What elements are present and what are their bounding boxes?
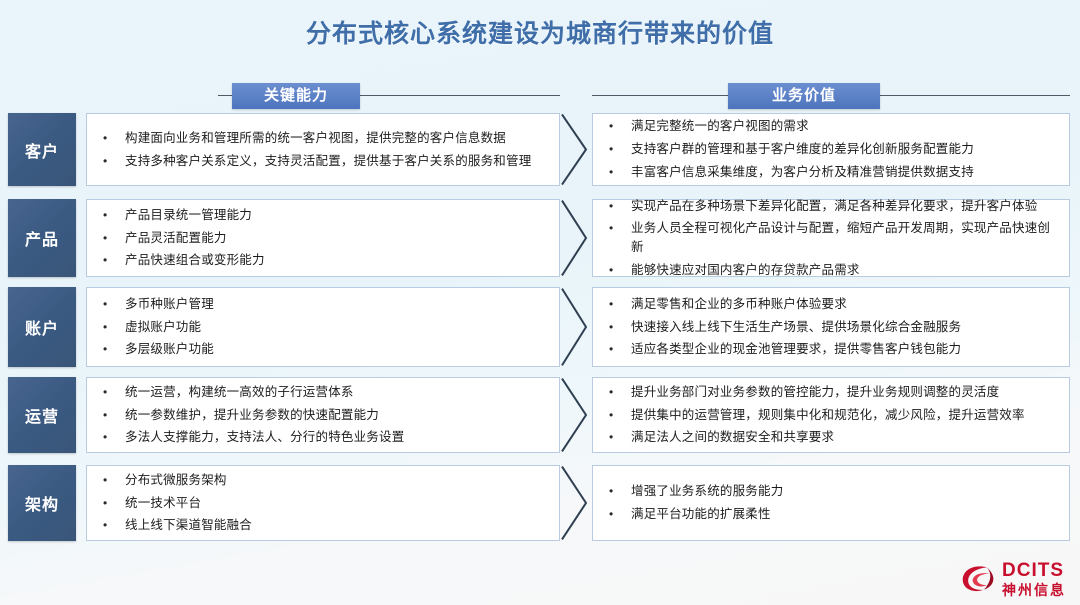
bullet-item: •增强了业务系统的服务能力 bbox=[593, 480, 1069, 503]
bullet-item: •提升业务部门对业务参数的管控能力，提升业务规则调整的灵活度 bbox=[593, 381, 1069, 404]
bullet-item: •分布式微服务架构 bbox=[87, 469, 559, 492]
bullet-item: •满足法人之间的数据安全和共享要求 bbox=[593, 426, 1069, 449]
bullet-dot-icon: • bbox=[603, 219, 631, 237]
bullet-item: •统一技术平台 bbox=[87, 492, 559, 515]
bullet-text: 提供集中的运营管理，规则集中化和规范化，减少风险，提升运营效率 bbox=[631, 406, 1055, 425]
bullet-item: •产品快速组合或变形能力 bbox=[87, 249, 559, 272]
values-card-2: •满足零售和企业的多币种账户体验要求•快速接入线上线下生活生产场景、提供场景化综… bbox=[592, 287, 1070, 367]
bullet-dot-icon: • bbox=[97, 251, 125, 269]
bullet-item: •多层级账户功能 bbox=[87, 338, 559, 361]
bullet-text: 虚拟账户功能 bbox=[125, 318, 545, 337]
bullet-text: 快速接入线上线下生活生产场景、提供场景化综合金融服务 bbox=[631, 318, 1055, 337]
logo-cn-text: 神州信息 bbox=[1002, 583, 1066, 597]
bullet-item: •实现产品在多种场景下差异化配置，满足各种差异化要求，提升客户体验 bbox=[593, 195, 1069, 218]
bullet-text: 支持多种客户关系定义，支持灵活配置，提供基于客户关系的服务和管理 bbox=[125, 152, 545, 171]
bullet-dot-icon: • bbox=[97, 406, 125, 424]
bullet-item: •产品灵活配置能力 bbox=[87, 227, 559, 250]
bullet-item: •统一运营，构建统一高效的子行运营体系 bbox=[87, 381, 559, 404]
bullet-dot-icon: • bbox=[603, 428, 631, 446]
bullet-dot-icon: • bbox=[97, 494, 125, 512]
bullet-text: 满足零售和企业的多币种账户体验要求 bbox=[631, 295, 1055, 314]
bullet-text: 丰富客户信息采集维度，为客户分析及精准营销提供数据支持 bbox=[631, 163, 1055, 182]
bullet-text: 实现产品在多种场景下差异化配置，满足各种差异化要求，提升客户体验 bbox=[631, 197, 1055, 216]
category-row: 运营•统一运营，构建统一高效的子行运营体系•统一参数维护，提升业务参数的快速配置… bbox=[0, 377, 1080, 453]
bullet-dot-icon: • bbox=[603, 295, 631, 313]
bullet-dot-icon: • bbox=[97, 295, 125, 313]
bullet-dot-icon: • bbox=[603, 482, 631, 500]
bullet-item: •丰富客户信息采集维度，为客户分析及精准营销提供数据支持 bbox=[593, 161, 1069, 184]
capabilities-card-0: •构建面向业务和管理所需的统一客户视图，提供完整的客户信息数据•支持多种客户关系… bbox=[86, 113, 560, 186]
bullet-item: •统一参数维护，提升业务参数的快速配置能力 bbox=[87, 404, 559, 427]
bullet-text: 产品快速组合或变形能力 bbox=[125, 251, 545, 270]
capabilities-card-1: •产品目录统一管理能力•产品灵活配置能力•产品快速组合或变形能力 bbox=[86, 199, 560, 277]
bullet-text: 统一参数维护，提升业务参数的快速配置能力 bbox=[125, 406, 545, 425]
bullet-item: •多法人支撑能力，支持法人、分行的特色业务设置 bbox=[87, 426, 559, 449]
bullet-text: 分布式微服务架构 bbox=[125, 471, 545, 490]
bullet-dot-icon: • bbox=[97, 229, 125, 247]
bullet-text: 支持客户群的管理和基于客户维度的差异化创新服务配置能力 bbox=[631, 140, 1055, 159]
bullet-item: •虚拟账户功能 bbox=[87, 316, 559, 339]
bullet-dot-icon: • bbox=[603, 197, 631, 215]
flow-chevron-2 bbox=[560, 287, 588, 367]
capabilities-card-4: •分布式微服务架构•统一技术平台•线上线下渠道智能融合 bbox=[86, 465, 560, 541]
dcits-swirl-icon bbox=[960, 562, 996, 596]
bullet-text: 业务人员全程可视化产品设计与配置，缩短产品开发周期，实现产品快速创新 bbox=[631, 219, 1055, 257]
category-row: 产品•产品目录统一管理能力•产品灵活配置能力•产品快速组合或变形能力•实现产品在… bbox=[0, 199, 1080, 277]
bullet-text: 统一运营，构建统一高效的子行运营体系 bbox=[125, 383, 545, 402]
bullet-text: 统一技术平台 bbox=[125, 494, 545, 513]
bullet-dot-icon: • bbox=[603, 261, 631, 279]
category-row: 客户•构建面向业务和管理所需的统一客户视图，提供完整的客户信息数据•支持多种客户… bbox=[0, 113, 1080, 186]
bullet-dot-icon: • bbox=[97, 129, 125, 147]
bullet-item: •提供集中的运营管理，规则集中化和规范化，减少风险，提升运营效率 bbox=[593, 404, 1069, 427]
bullet-text: 满足平台功能的扩展柔性 bbox=[631, 505, 1055, 524]
bullet-text: 适应各类型企业的现金池管理要求，提供零售客户钱包能力 bbox=[631, 340, 1055, 359]
bullet-dot-icon: • bbox=[97, 471, 125, 489]
logo-en-text: DCITS bbox=[1002, 561, 1066, 580]
category-row: 账户•多币种账户管理•虚拟账户功能•多层级账户功能•满足零售和企业的多币种账户体… bbox=[0, 287, 1080, 367]
bullet-text: 构建面向业务和管理所需的统一客户视图，提供完整的客户信息数据 bbox=[125, 129, 545, 148]
flow-chevron-1 bbox=[560, 199, 588, 277]
bullet-text: 能够快速应对国内客户的存贷款产品需求 bbox=[631, 261, 1055, 280]
bullet-dot-icon: • bbox=[603, 406, 631, 424]
category-label-2[interactable]: 账户 bbox=[8, 287, 76, 367]
bullet-dot-icon: • bbox=[97, 152, 125, 170]
bullet-dot-icon: • bbox=[97, 340, 125, 358]
bullet-text: 增强了业务系统的服务能力 bbox=[631, 482, 1055, 501]
logo-wordmark: DCITS 神州信息 bbox=[1002, 561, 1066, 597]
bullet-item: •能够快速应对国内客户的存贷款产品需求 bbox=[593, 259, 1069, 282]
bullet-text: 多层级账户功能 bbox=[125, 340, 545, 359]
bullet-text: 满足法人之间的数据安全和共享要求 bbox=[631, 428, 1055, 447]
values-card-1: •实现产品在多种场景下差异化配置，满足各种差异化要求，提升客户体验•业务人员全程… bbox=[592, 199, 1070, 277]
column-header-capabilities-label: 关键能力 bbox=[232, 83, 360, 109]
page-title: 分布式核心系统建设为城商行带来的价值 bbox=[0, 14, 1080, 50]
bullet-dot-icon: • bbox=[97, 428, 125, 446]
category-row: 架构•分布式微服务架构•统一技术平台•线上线下渠道智能融合•增强了业务系统的服务… bbox=[0, 465, 1080, 541]
bullet-item: •满足完整统一的客户视图的需求 bbox=[593, 115, 1069, 138]
category-label-3[interactable]: 运营 bbox=[8, 377, 76, 453]
bullet-dot-icon: • bbox=[97, 318, 125, 336]
column-header-values: 业务价值 bbox=[592, 83, 1070, 109]
values-card-3: •提升业务部门对业务参数的管控能力，提升业务规则调整的灵活度•提供集中的运营管理… bbox=[592, 377, 1070, 453]
brand-logo: DCITS 神州信息 bbox=[960, 561, 1066, 597]
bullet-text: 产品目录统一管理能力 bbox=[125, 206, 545, 225]
values-card-4: •增强了业务系统的服务能力•满足平台功能的扩展柔性 bbox=[592, 465, 1070, 541]
bullet-text: 提升业务部门对业务参数的管控能力，提升业务规则调整的灵活度 bbox=[631, 383, 1055, 402]
bullet-text: 产品灵活配置能力 bbox=[125, 229, 545, 248]
bullet-text: 多币种账户管理 bbox=[125, 295, 545, 314]
capabilities-card-3: •统一运营，构建统一高效的子行运营体系•统一参数维护，提升业务参数的快速配置能力… bbox=[86, 377, 560, 453]
category-label-0[interactable]: 客户 bbox=[8, 113, 76, 186]
bullet-item: •产品目录统一管理能力 bbox=[87, 204, 559, 227]
bullet-text: 满足完整统一的客户视图的需求 bbox=[631, 117, 1055, 136]
capabilities-card-2: •多币种账户管理•虚拟账户功能•多层级账户功能 bbox=[86, 287, 560, 367]
bullet-dot-icon: • bbox=[603, 163, 631, 181]
flow-chevron-4 bbox=[560, 465, 588, 541]
column-header-capabilities: 关键能力 bbox=[218, 83, 560, 109]
bullet-item: •支持多种客户关系定义，支持灵活配置，提供基于客户关系的服务和管理 bbox=[87, 150, 559, 173]
category-label-4[interactable]: 架构 bbox=[8, 465, 76, 541]
values-card-0: •满足完整统一的客户视图的需求•支持客户群的管理和基于客户维度的差异化创新服务配… bbox=[592, 113, 1070, 186]
bullet-dot-icon: • bbox=[603, 318, 631, 336]
bullet-dot-icon: • bbox=[603, 140, 631, 158]
flow-chevron-3 bbox=[560, 377, 588, 453]
bullet-dot-icon: • bbox=[97, 206, 125, 224]
bullet-text: 多法人支撑能力，支持法人、分行的特色业务设置 bbox=[125, 428, 545, 447]
bullet-dot-icon: • bbox=[603, 505, 631, 523]
bullet-item: •业务人员全程可视化产品设计与配置，缩短产品开发周期，实现产品快速创新 bbox=[593, 217, 1069, 259]
bullet-item: •满足平台功能的扩展柔性 bbox=[593, 503, 1069, 526]
bullet-item: •满足零售和企业的多币种账户体验要求 bbox=[593, 293, 1069, 316]
category-label-1[interactable]: 产品 bbox=[8, 199, 76, 277]
bullet-dot-icon: • bbox=[603, 340, 631, 358]
bullet-item: •构建面向业务和管理所需的统一客户视图，提供完整的客户信息数据 bbox=[87, 127, 559, 150]
bullet-dot-icon: • bbox=[603, 383, 631, 401]
slide-canvas: 分布式核心系统建设为城商行带来的价值 关键能力 业务价值 客户•构建面向业务和管… bbox=[0, 0, 1080, 605]
bullet-item: •支持客户群的管理和基于客户维度的差异化创新服务配置能力 bbox=[593, 138, 1069, 161]
bullet-dot-icon: • bbox=[97, 516, 125, 534]
bullet-item: •快速接入线上线下生活生产场景、提供场景化综合金融服务 bbox=[593, 316, 1069, 339]
flow-chevron-0 bbox=[560, 113, 588, 186]
bullet-item: •多币种账户管理 bbox=[87, 293, 559, 316]
bullet-text: 线上线下渠道智能融合 bbox=[125, 516, 545, 535]
bullet-item: •适应各类型企业的现金池管理要求，提供零售客户钱包能力 bbox=[593, 338, 1069, 361]
column-header-values-label: 业务价值 bbox=[728, 83, 880, 109]
bullet-dot-icon: • bbox=[603, 117, 631, 135]
bullet-item: •线上线下渠道智能融合 bbox=[87, 514, 559, 537]
bullet-dot-icon: • bbox=[97, 383, 125, 401]
